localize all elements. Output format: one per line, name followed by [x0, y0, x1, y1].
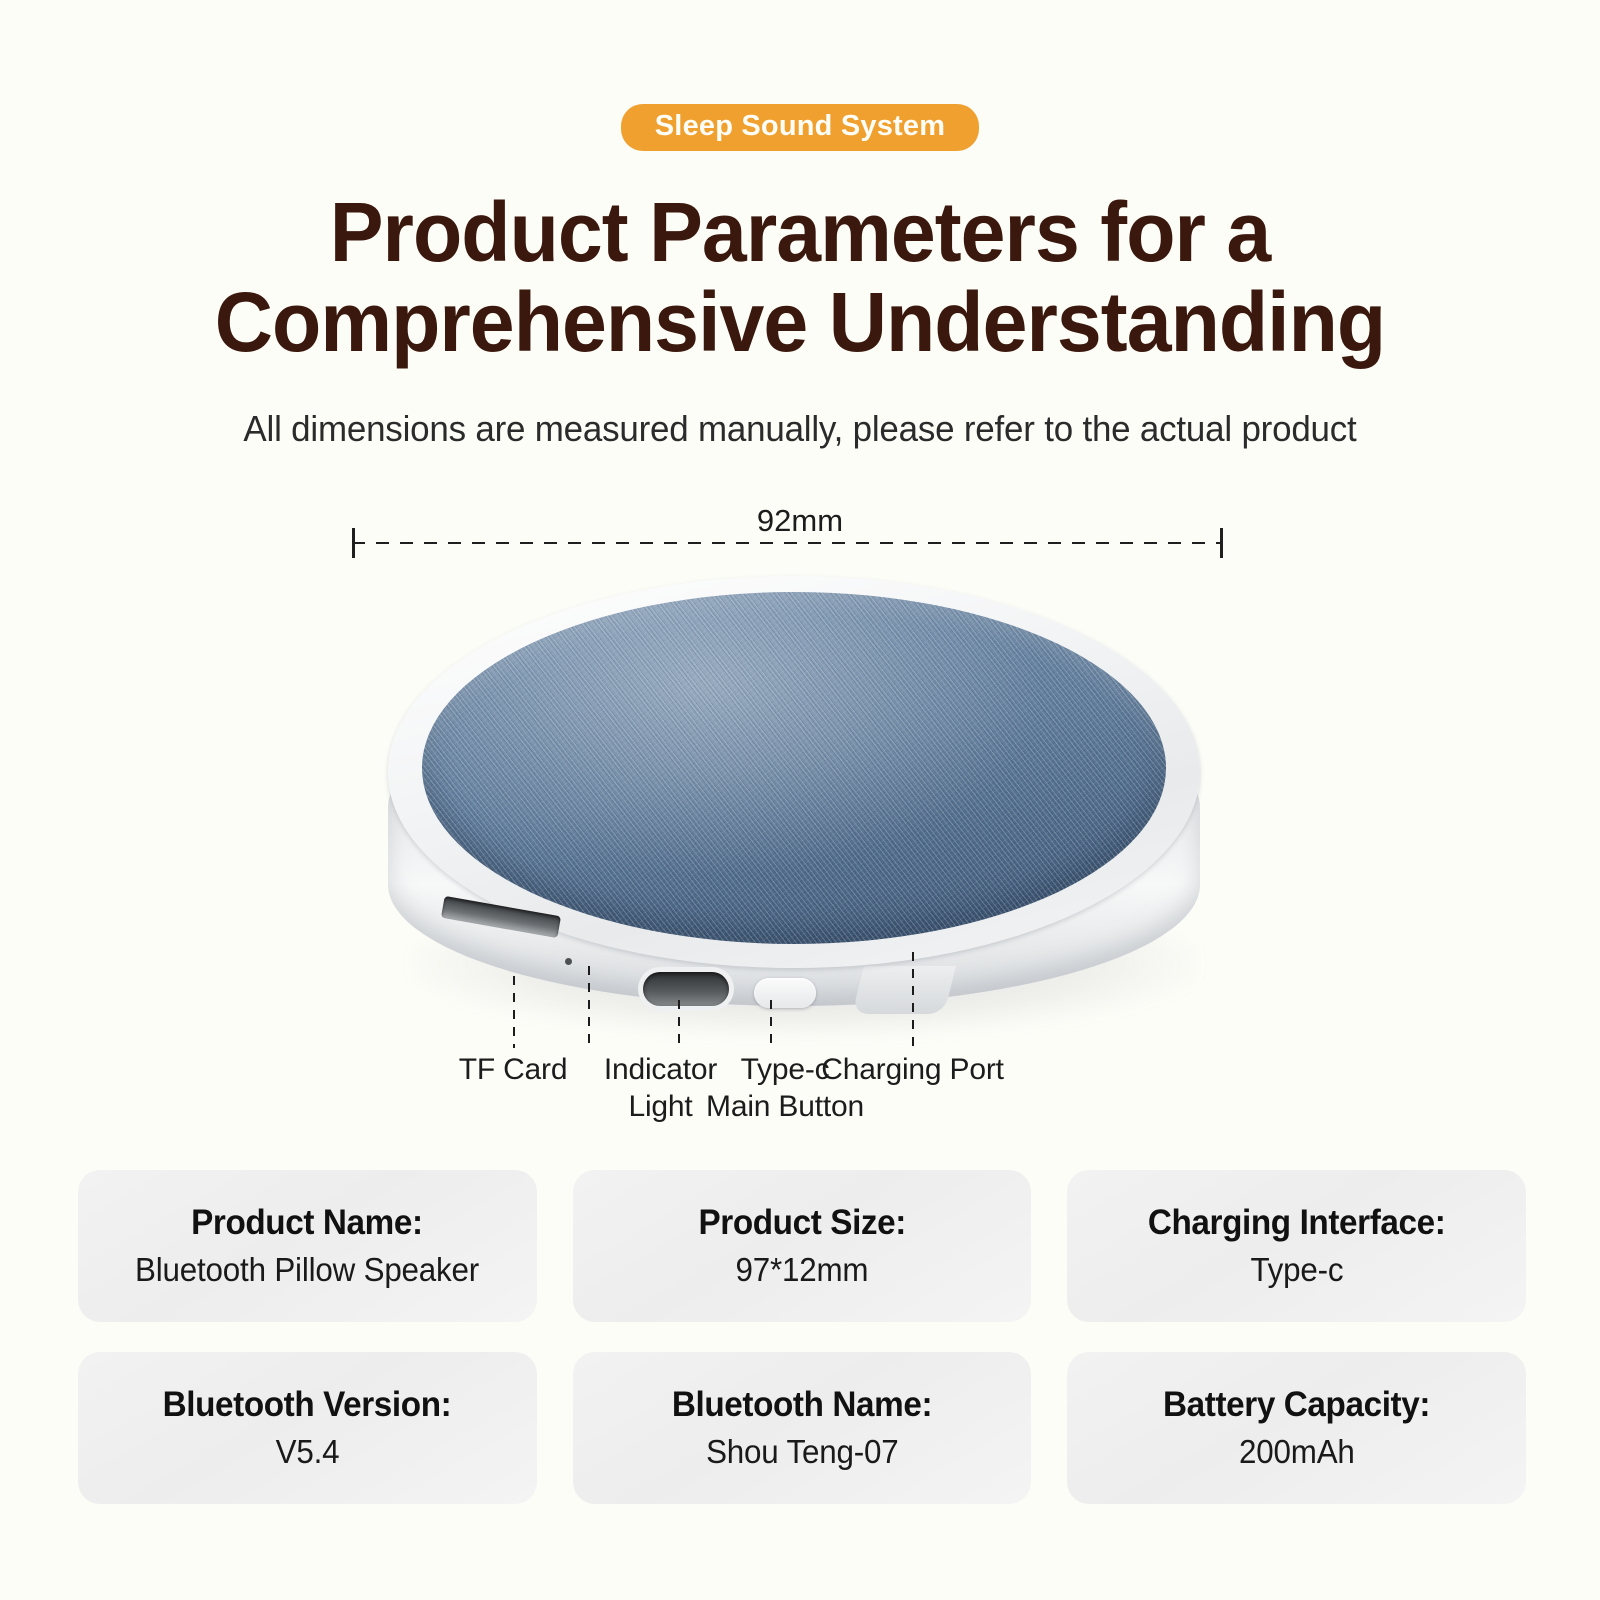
spec-value: Shou Teng-07 — [706, 1433, 898, 1471]
page-title-line-1: Product Parameters for a — [330, 185, 1271, 279]
leader-line-type-c-button — [678, 1000, 680, 1048]
spec-card-bluetooth-version: Bluetooth Version: V5.4 — [78, 1352, 537, 1504]
spec-key: Battery Capacity: — [1163, 1385, 1430, 1425]
spec-value: Type-c — [1250, 1251, 1343, 1289]
callout-charging-port: Charging Port — [810, 1052, 1015, 1089]
dimension-label-92mm: 92mm — [0, 503, 1600, 539]
page-subtitle: All dimensions are measured manually, pl… — [24, 408, 1576, 450]
spec-key: Bluetooth Version: — [163, 1385, 452, 1425]
spec-key: Product Size: — [698, 1203, 906, 1243]
spec-value: 200mAh — [1239, 1433, 1355, 1471]
callout-tf-card-line-1: TF Card — [433, 1052, 593, 1089]
callout-charging-port-line-1: Charging Port — [810, 1052, 1015, 1089]
page-title: Product Parameters for a Comprehensive U… — [32, 188, 1568, 368]
callout-main-button-line-2: Main Button — [700, 1089, 870, 1126]
leader-line-tf-card — [513, 976, 515, 1048]
spec-value: Bluetooth Pillow Speaker — [135, 1251, 479, 1289]
spec-key: Charging Interface: — [1148, 1203, 1446, 1243]
spec-key: Bluetooth Name: — [672, 1385, 932, 1425]
sleep-sound-system-badge: Sleep Sound System — [621, 104, 979, 151]
product-fabric-top — [422, 592, 1166, 944]
spec-card-product-size: Product Size: 97*12mm — [573, 1170, 1032, 1322]
page-title-line-2: Comprehensive Understanding — [32, 278, 1568, 368]
spec-card-bluetooth-name: Bluetooth Name: Shou Teng-07 — [573, 1352, 1032, 1504]
dimension-dashed-line — [352, 542, 1222, 544]
fabric-weave-texture — [422, 592, 1166, 944]
leader-line-charging-port — [912, 952, 914, 1048]
spec-cards-grid: Product Name: Bluetooth Pillow Speaker P… — [78, 1170, 1526, 1504]
product-foot-tab — [852, 966, 956, 1014]
leader-line-main-button — [770, 1000, 772, 1048]
indicator-light-icon — [565, 958, 572, 965]
spec-value: V5.4 — [275, 1433, 339, 1471]
spec-value: 97*12mm — [736, 1251, 869, 1289]
callout-tf-card: TF Card — [433, 1052, 593, 1089]
dimension-tick-right — [1220, 528, 1223, 558]
spec-card-battery-capacity: Battery Capacity: 200mAh — [1067, 1352, 1526, 1504]
type-c-port-icon — [643, 972, 729, 1006]
spec-key: Product Name: — [192, 1203, 424, 1243]
spec-card-charging-interface: Charging Interface: Type-c — [1067, 1170, 1526, 1322]
product-illustration — [350, 558, 1250, 1058]
leader-line-indicator-light — [588, 966, 590, 1048]
main-button-icon — [754, 978, 816, 1008]
spec-card-product-name: Product Name: Bluetooth Pillow Speaker — [78, 1170, 537, 1322]
badge-container: Sleep Sound System — [0, 104, 1600, 151]
